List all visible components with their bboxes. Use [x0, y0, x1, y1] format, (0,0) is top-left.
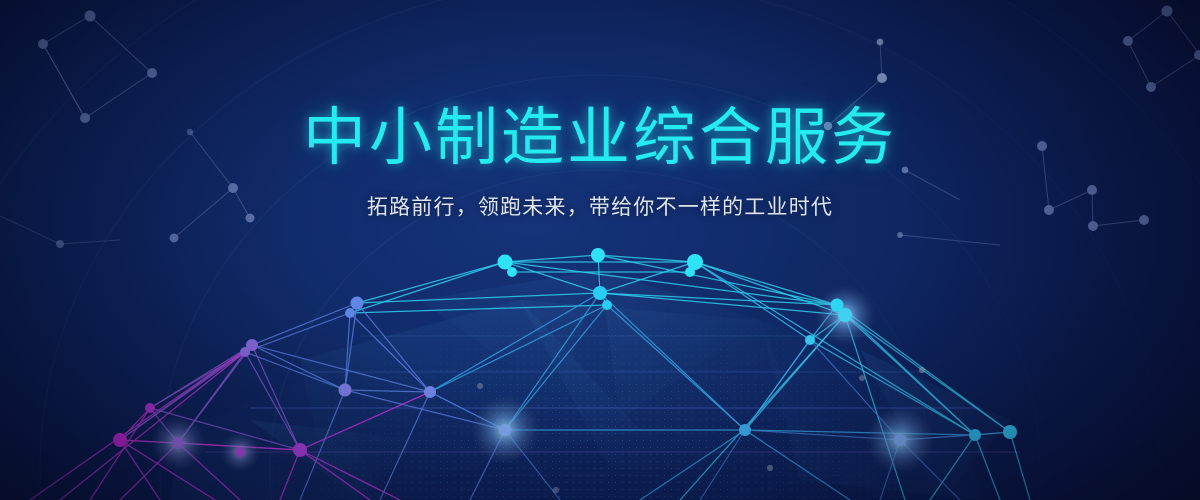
- network-dome-graphic: [0, 0, 1200, 500]
- constellation-left: [38, 11, 255, 243]
- constellation-right: [0, 6, 1200, 249]
- hero-banner: 中小制造业综合服务 拓路前行，领跑未来，带给你不一样的工业时代: [0, 0, 1200, 500]
